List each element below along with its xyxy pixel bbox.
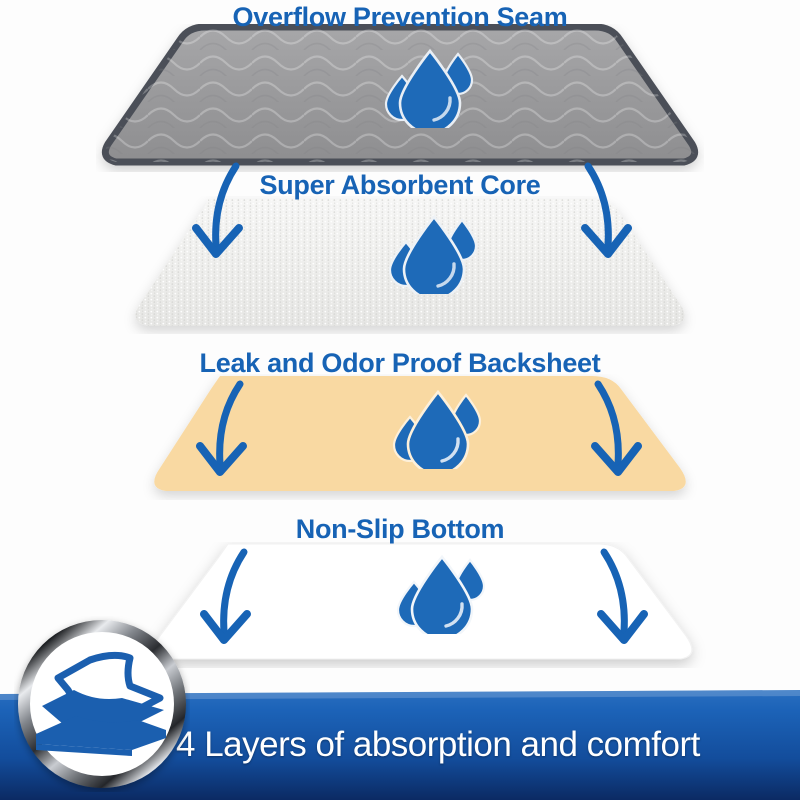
banner-text: 4 Layers of absorption and comfort <box>176 690 700 800</box>
layer-label-super-absorbent-core: Super Absorbent Core <box>0 170 800 201</box>
layer-label-overflow-prevention-seam: Overflow Prevention Seam <box>0 2 800 33</box>
water-droplets-icon <box>386 51 472 128</box>
water-droplets-icon <box>390 217 476 294</box>
droplets-overflow-prevention-seam <box>378 46 483 128</box>
layer-label-leak-and-odor-proof-backsheet: Leak and Odor Proof Backsheet <box>0 348 800 379</box>
infographic-canvas: Overflow Prevention Seam <box>0 0 800 800</box>
droplets-non-slip-bottom <box>390 552 495 634</box>
arrow-right-to-leak-and-odor-proof-backsheet <box>572 378 642 483</box>
layer-label-non-slip-bottom: Non-Slip Bottom <box>0 514 800 545</box>
four-layers-badge <box>14 616 190 792</box>
water-droplets-icon <box>394 392 480 469</box>
droplets-leak-and-odor-proof-backsheet <box>386 387 491 469</box>
water-droplets-icon <box>398 557 484 634</box>
arrow-left-to-leak-and-odor-proof-backsheet <box>196 378 266 483</box>
arrow-right-to-non-slip-bottom <box>578 546 648 651</box>
droplets-super-absorbent-core <box>382 212 487 294</box>
arrow-left-to-non-slip-bottom <box>200 546 270 651</box>
